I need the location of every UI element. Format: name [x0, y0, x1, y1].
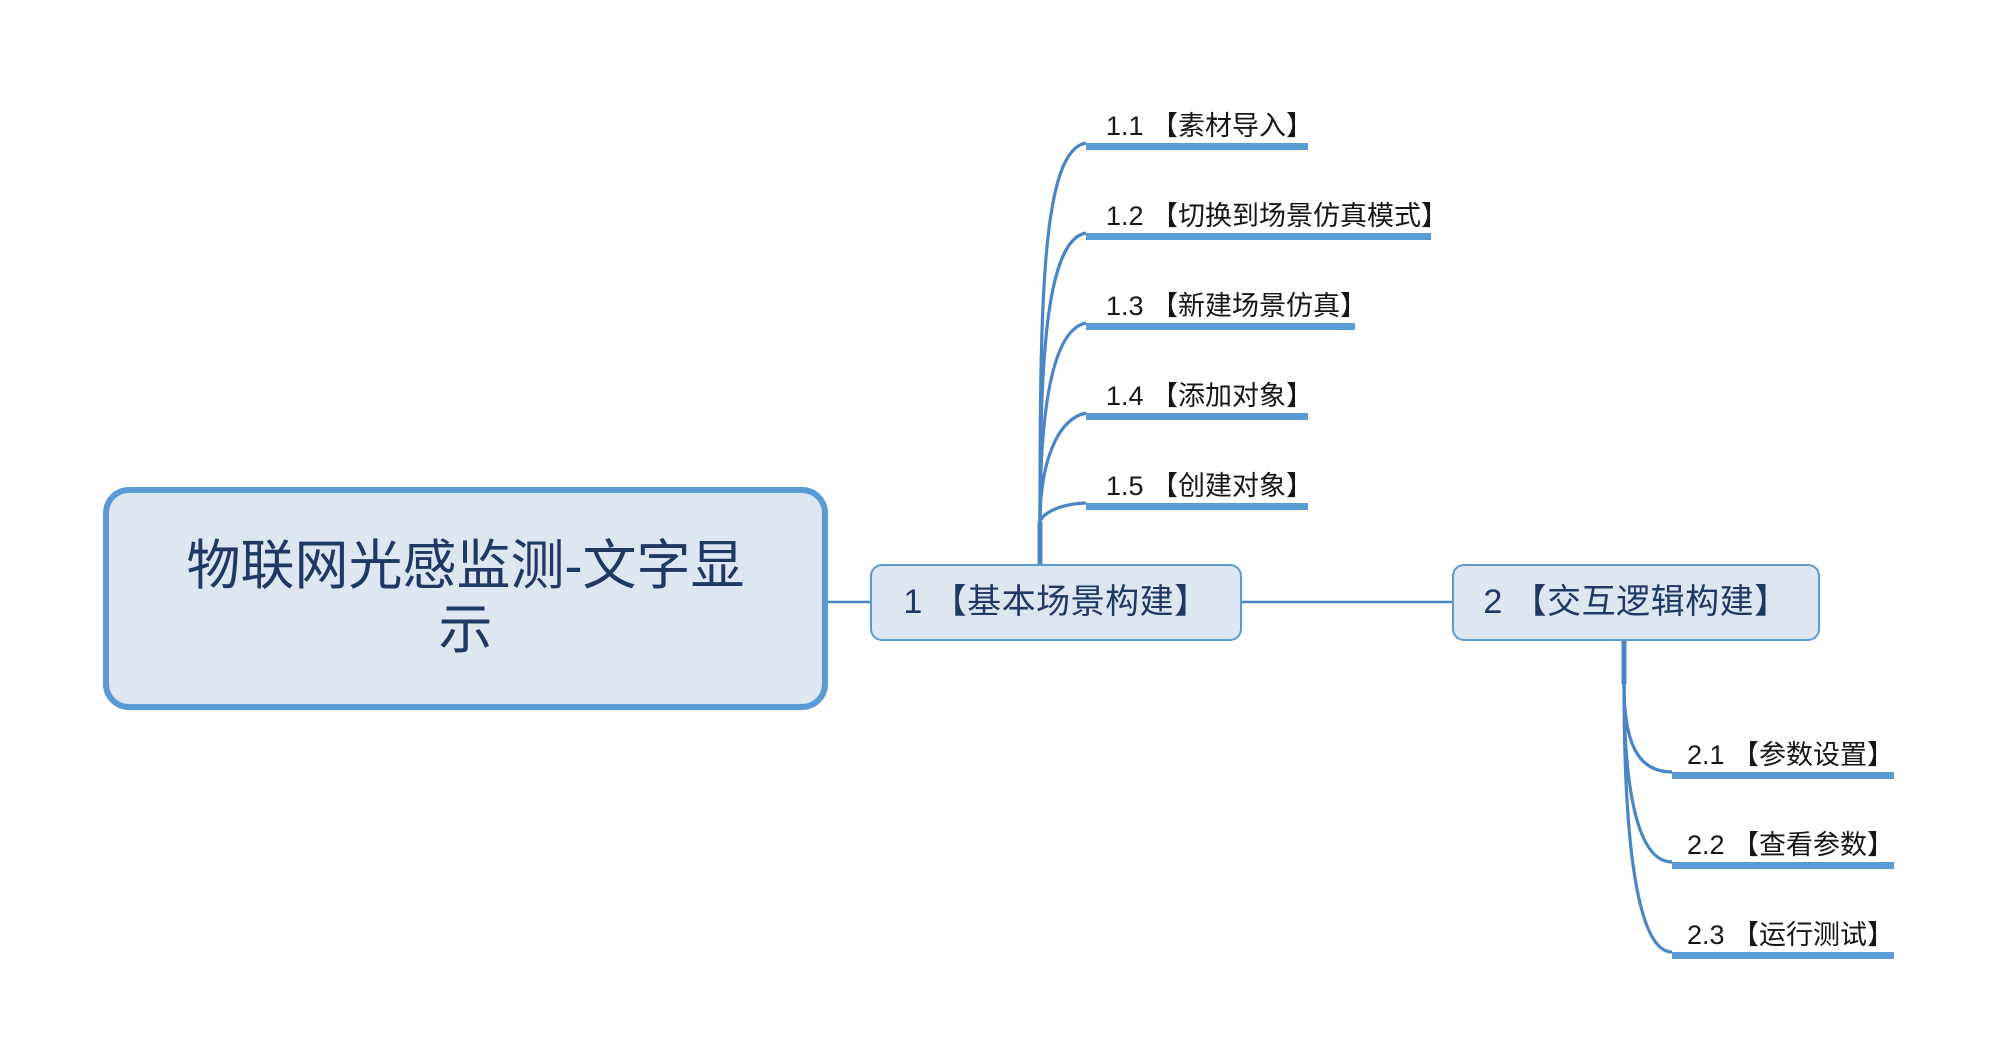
leaf-item-2-3[interactable]: 2.3 【运行测试】	[1672, 887, 1894, 959]
leaf-item-1-4-label: 1.4 【添加对象】	[1106, 383, 1313, 410]
leaf-item-1-3[interactable]: 1.3 【新建场景仿真】	[1086, 258, 1355, 330]
leaf-item-1-5-underline	[1086, 503, 1308, 510]
leaf-item-2-1[interactable]: 2.1 【参数设置】	[1672, 707, 1894, 779]
leaf-item-1-1[interactable]: 1.1 【素材导入】	[1086, 78, 1308, 150]
root-node-label: 物联网光感监测-文字显示	[187, 535, 745, 662]
leaf-item-1-2-underline	[1086, 233, 1431, 240]
leaf-item-1-2-label: 1.2 【切换到场景仿真模式】	[1106, 203, 1448, 230]
connector-branch2-child-3	[1624, 684, 1672, 952]
branch-node-2-label: 2 【交互逻辑构建】	[1483, 582, 1788, 622]
leaf-item-2-2[interactable]: 2.2 【查看参数】	[1672, 797, 1894, 869]
leaf-item-2-3-underline	[1672, 952, 1894, 959]
connector-branch1-child-3	[1040, 323, 1086, 522]
leaf-item-1-1-label: 1.1 【素材导入】	[1106, 113, 1313, 140]
leaf-item-1-4-underline	[1086, 413, 1308, 420]
leaf-item-1-3-label: 1.3 【新建场景仿真】	[1106, 293, 1367, 320]
branch-node-1-label: 1 【基本场景构建】	[903, 582, 1208, 622]
branch-node-1[interactable]: 1 【基本场景构建】	[870, 564, 1242, 641]
leaf-item-2-2-label: 2.2 【查看参数】	[1687, 832, 1894, 859]
mindmap-canvas: 物联网光感监测-文字显示 1 【基本场景构建】 2 【交互逻辑构建】 1.1 【…	[0, 0, 1994, 1052]
leaf-item-2-1-underline	[1672, 772, 1894, 779]
leaf-item-1-2[interactable]: 1.2 【切换到场景仿真模式】	[1086, 168, 1431, 240]
connector-branch1-child-2	[1040, 233, 1086, 522]
leaf-item-2-1-label: 2.1 【参数设置】	[1687, 742, 1894, 769]
leaf-item-2-3-label: 2.3 【运行测试】	[1687, 922, 1894, 949]
leaf-item-1-5[interactable]: 1.5 【创建对象】	[1086, 438, 1308, 510]
connector-branch2-child-1	[1624, 684, 1672, 772]
leaf-item-1-3-underline	[1086, 323, 1355, 330]
leaf-item-1-4[interactable]: 1.4 【添加对象】	[1086, 348, 1308, 420]
root-node[interactable]: 物联网光感监测-文字显示	[103, 487, 828, 710]
branch-node-2[interactable]: 2 【交互逻辑构建】	[1452, 564, 1820, 641]
leaf-item-1-1-underline	[1086, 143, 1308, 150]
leaf-item-2-2-underline	[1672, 862, 1894, 869]
connector-branch1-child-5	[1040, 503, 1086, 522]
leaf-item-1-5-label: 1.5 【创建对象】	[1106, 473, 1313, 500]
